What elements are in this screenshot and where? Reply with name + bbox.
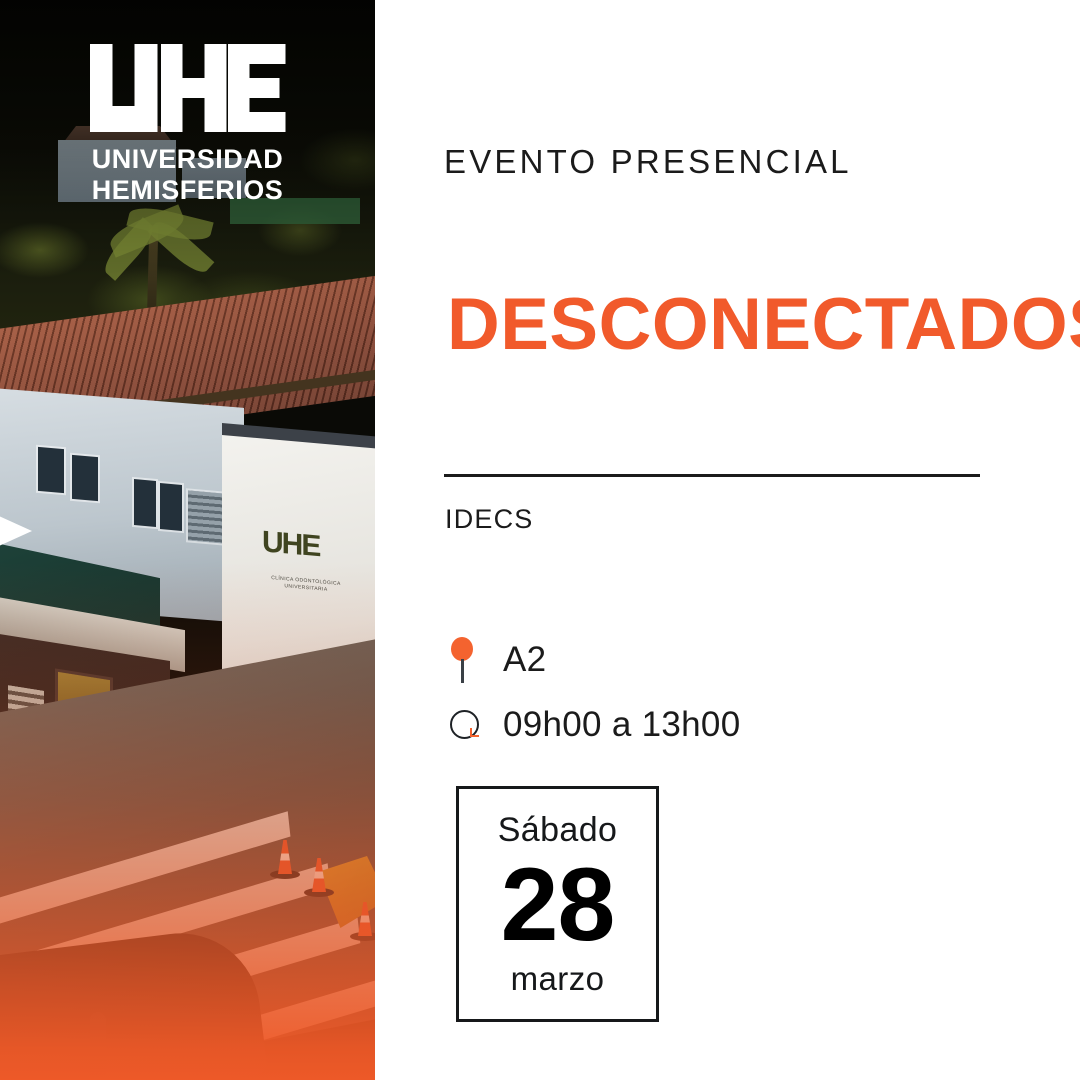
uhe-letter-h-icon <box>161 44 227 132</box>
location-pin-head <box>451 637 473 661</box>
building-window <box>38 447 64 493</box>
event-kicker: EVENTO PRESENCIAL <box>444 143 852 181</box>
clock-minute-hand <box>470 735 479 737</box>
building-vent-louvers <box>188 490 224 543</box>
location-row: A2 <box>445 637 546 683</box>
university-name-line-2: HEMISFERIOS <box>0 175 375 206</box>
location-value: A2 <box>503 640 546 680</box>
event-poster: UHE CLÍNICA ODONTOLÓGICA UNIVERSITARIA <box>0 0 1080 1080</box>
date-weekday: Sábado <box>498 811 618 849</box>
play-triangle-icon[interactable] <box>0 503 32 559</box>
pedestrian <box>90 1012 106 1078</box>
location-pin-stem <box>461 659 464 683</box>
uhe-logo-mark <box>0 44 375 132</box>
uhe-letter-e-icon <box>228 44 286 132</box>
event-title: DESCONECTADOS <box>447 283 1080 366</box>
photo-panel: UHE CLÍNICA ODONTOLÓGICA UNIVERSITARIA <box>0 0 375 1080</box>
university-name-line-1: UNIVERSIDAD <box>0 144 375 175</box>
time-row: 09h00 a 13h00 <box>445 702 740 748</box>
building-window <box>160 483 182 531</box>
date-month: marzo <box>511 961 605 997</box>
content-panel: EVENTO PRESENCIAL DESCONECTADOS IDECS A2… <box>375 0 1080 1080</box>
wall-uhe-logo-text: UHE <box>262 526 348 566</box>
location-pin-icon <box>445 637 481 683</box>
clock-icon <box>445 702 481 748</box>
university-name: UNIVERSIDAD HEMISFERIOS <box>0 144 375 206</box>
time-value: 09h00 a 13h00 <box>503 705 740 745</box>
uhe-letter-u-icon <box>90 44 158 132</box>
wall-uhe-logo: UHE <box>262 526 348 576</box>
building-window <box>72 455 98 501</box>
date-card: Sábado 28 marzo <box>456 786 659 1022</box>
event-subtitle: IDECS <box>445 504 534 535</box>
date-day-number: 28 <box>501 851 615 959</box>
clock-face <box>450 710 479 739</box>
building-window <box>134 479 156 527</box>
section-divider <box>444 474 980 477</box>
uhe-logo-lockup: UNIVERSIDAD HEMISFERIOS <box>0 44 375 206</box>
